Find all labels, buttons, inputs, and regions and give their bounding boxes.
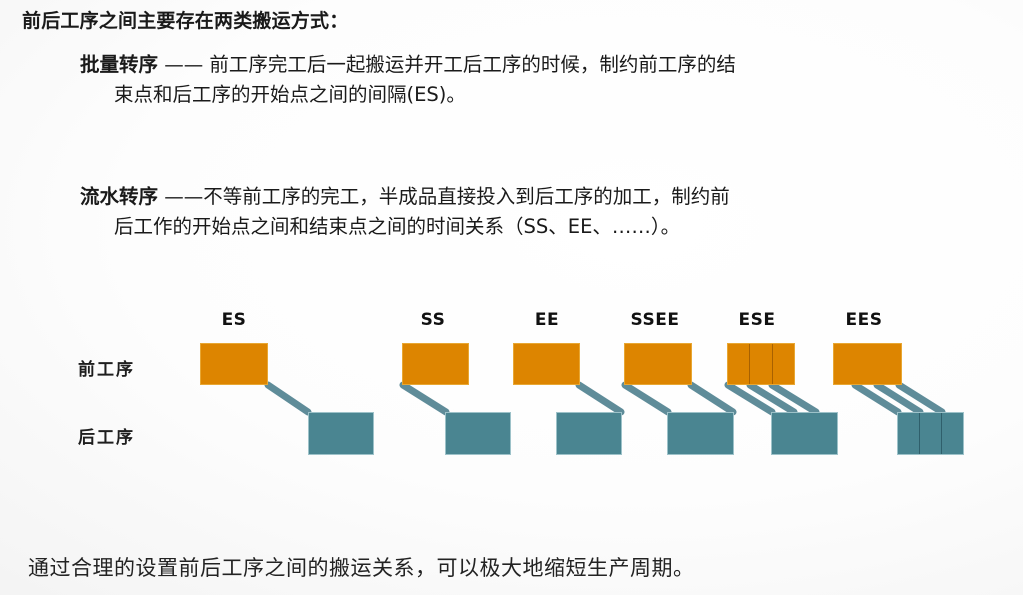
- downstream-segment: [941, 413, 963, 454]
- upstream-bar-ees: [833, 343, 902, 385]
- upstream-segment: [403, 344, 468, 384]
- case-label-ssee: SSEE: [615, 310, 695, 330]
- downstream-bar-ss: [445, 412, 511, 455]
- upstream-segment: [772, 344, 794, 384]
- link-line-ese-3: [772, 385, 816, 412]
- link-line-ees-2: [877, 385, 920, 412]
- upstream-bar-ss: [402, 343, 469, 385]
- paragraph-batch-line2: 束点和后工序的开始点之间的间隔(ES)。: [80, 80, 1020, 110]
- footnote-text: 通过合理的设置前后工序之间的搬运关系，可以极大地缩短生产周期。: [28, 552, 695, 582]
- paragraph-flow-line1: 不等前工序的完工，半成品直接投入到后工序的加工，制约前: [203, 185, 730, 208]
- upstream-segment: [201, 344, 267, 384]
- link-line-ees-1: [855, 385, 898, 412]
- upstream-segment: [834, 344, 901, 384]
- case-label-ss: SS: [393, 310, 473, 330]
- paragraph-flow-dash: ——: [158, 185, 203, 208]
- link-line-ssee-2: [691, 385, 733, 412]
- downstream-segment: [772, 413, 837, 454]
- row-label-downstream: 后工序: [78, 423, 135, 448]
- upstream-segment: [728, 344, 749, 384]
- slide-canvas: 前后工序之间主要存在两类搬运方式： 批量转序 —— 前工序完工后一起搬运并开工后…: [0, 0, 1023, 595]
- paragraph-batch-lead: 批量转序: [80, 53, 158, 76]
- upstream-bar-ssee: [624, 343, 692, 385]
- downstream-segment: [898, 413, 919, 454]
- link-line-ese-1: [728, 385, 772, 412]
- downstream-bar-es: [308, 412, 374, 455]
- transfer-relationship-diagram: 前工序 后工序 ESSSEESSEEESEEES: [0, 300, 1023, 480]
- case-label-ees: EES: [824, 310, 904, 330]
- link-line-ee-1: [579, 385, 621, 412]
- downstream-segment: [557, 413, 621, 454]
- link-line-ese-2: [750, 385, 794, 412]
- downstream-bar-ssee: [667, 412, 734, 455]
- downstream-bar-ese: [771, 412, 838, 455]
- downstream-segment: [668, 413, 733, 454]
- paragraph-flow-lead: 流水转序: [80, 185, 158, 208]
- upstream-bar-ee: [513, 343, 580, 385]
- page-title: 前后工序之间主要存在两类搬运方式：: [22, 6, 348, 33]
- case-label-ee: EE: [507, 310, 587, 330]
- case-label-ese: ESE: [717, 310, 797, 330]
- paragraph-batch-dash: ——: [158, 53, 209, 76]
- case-label-es: ES: [194, 310, 274, 330]
- paragraph-batch-line1: 前工序完工后一起搬运并开工后工序的时候，制约前工序的结: [209, 53, 736, 76]
- row-label-upstream: 前工序: [78, 355, 135, 380]
- paragraph-flow-transfer: 流水转序 ——不等前工序的完工，半成品直接投入到后工序的加工，制约前 后工作的开…: [80, 182, 1020, 242]
- upstream-segment: [749, 344, 771, 384]
- link-line-ss-1: [403, 385, 446, 412]
- upstream-segment: [514, 344, 579, 384]
- paragraph-flow-line2: 后工作的开始点之间和结束点之间的时间关系（SS、EE、……）。: [80, 212, 1020, 242]
- upstream-bar-ese: [727, 343, 795, 385]
- downstream-bar-ee: [556, 412, 622, 455]
- upstream-segment: [625, 344, 691, 384]
- downstream-bar-ees: [897, 412, 964, 455]
- link-line-ees-3: [899, 385, 942, 412]
- link-line-es-1: [268, 385, 308, 412]
- upstream-bar-es: [200, 343, 268, 385]
- downstream-segment: [309, 413, 373, 454]
- paragraph-batch-transfer: 批量转序 —— 前工序完工后一起搬运并开工后工序的时候，制约前工序的结 束点和后…: [80, 50, 1020, 110]
- link-line-ssee-1: [625, 385, 668, 412]
- downstream-segment: [919, 413, 941, 454]
- downstream-segment: [446, 413, 510, 454]
